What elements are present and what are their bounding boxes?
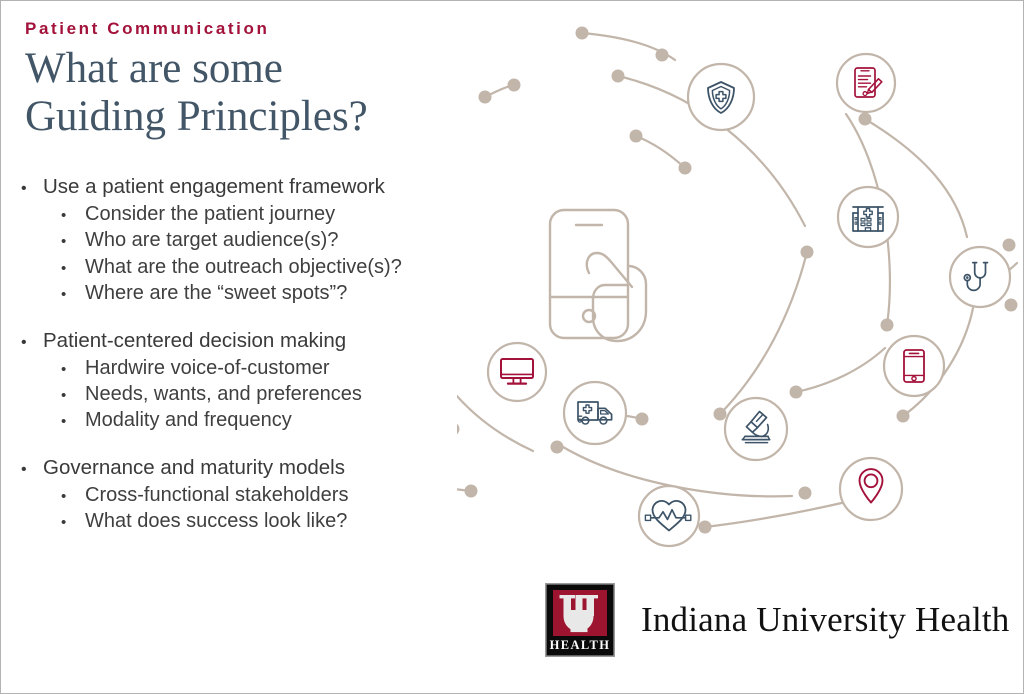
bullet-marker-icon: • (21, 332, 43, 353)
bullet-level2-label: Where are the “sweet spots”? (85, 280, 347, 306)
bullet-level1-label: Patient-centered decision making (43, 327, 346, 354)
eyebrow-label: Patient Communication (25, 19, 495, 39)
page-title-line-1: What are some (25, 45, 495, 93)
bullet-level2-label: Who are target audience(s)? (85, 227, 338, 253)
bullet-marker-icon: • (61, 285, 85, 305)
header-block: Patient Communication What are some Guid… (25, 19, 495, 141)
node-microscope[interactable] (725, 398, 787, 460)
bullet-level2: • Modality and frequency (61, 407, 491, 433)
bullet-level1-label: Governance and maturity models (43, 454, 345, 481)
logo-health-text: HEALTH (550, 638, 611, 652)
bullet-marker-icon: • (61, 259, 85, 279)
node-heart-ekg[interactable] (639, 486, 699, 546)
bullet-level2: • Cross-functional stakeholders (61, 482, 491, 508)
bullet-level2: • Consider the patient journey (61, 201, 491, 227)
bullet-level2: • Hardwire voice-of-customer (61, 355, 491, 381)
connected-care-graphic (457, 15, 1024, 575)
node-tablet-pen[interactable] (837, 54, 895, 112)
bullet-level2: • Where are the “sweet spots”? (61, 280, 491, 306)
icon-nodes (488, 54, 1010, 546)
node-desktop-monitor[interactable] (488, 343, 546, 401)
bullet-level2-label: What are the outreach objective(s)? (85, 254, 402, 280)
bullet-marker-icon: • (61, 232, 85, 252)
bullet-level2-label: Hardwire voice-of-customer (85, 355, 330, 381)
bullet-group: • Use a patient engagement framework • C… (21, 173, 491, 307)
page-title: What are some Guiding Principles? (25, 45, 495, 141)
node-ambulance[interactable] (564, 382, 626, 444)
bullet-level2: • Needs, wants, and preferences (61, 381, 491, 407)
bullet-marker-icon: • (21, 178, 43, 199)
bullet-level2-label: Needs, wants, and preferences (85, 381, 362, 407)
bullet-marker-icon: • (61, 487, 85, 507)
bullet-level1-label: Use a patient engagement framework (43, 173, 385, 200)
bullet-marker-icon: • (61, 206, 85, 226)
bullet-level2: • What are the outreach objective(s)? (61, 254, 491, 280)
bullet-level1: • Governance and maturity models (21, 454, 491, 481)
bullet-marker-icon: • (21, 459, 43, 480)
iu-health-logo-mark: HEALTH (545, 583, 615, 657)
phone-in-hand-icon (550, 210, 646, 341)
page-title-line-2: Guiding Principles? (25, 93, 495, 141)
node-smartphone[interactable] (884, 336, 944, 396)
bullet-level2: • What does success look like? (61, 508, 491, 534)
bullet-level2-label: Consider the patient journey (85, 201, 335, 227)
bullet-marker-icon: • (61, 513, 85, 533)
node-location-pin[interactable] (840, 458, 902, 520)
bullet-level2: • Who are target audience(s)? (61, 227, 491, 253)
bullet-level2-label: Cross-functional stakeholders (85, 482, 348, 508)
iu-health-logo: HEALTH Indiana University Health (545, 583, 1010, 657)
bullet-level1: • Use a patient engagement framework (21, 173, 491, 200)
bullet-level1: • Patient-centered decision making (21, 327, 491, 354)
bullet-list: • Use a patient engagement framework • C… (21, 173, 491, 535)
slide: Patient Communication What are some Guid… (0, 0, 1024, 694)
bullet-group: • Governance and maturity models • Cross… (21, 454, 491, 535)
bullet-level2-label: What does success look like? (85, 508, 347, 534)
bullet-marker-icon: • (61, 386, 85, 406)
node-shield-cross[interactable] (688, 64, 754, 130)
node-stethoscope[interactable] (950, 247, 1010, 307)
bullet-marker-icon: • (61, 360, 85, 380)
bullet-level2-label: Modality and frequency (85, 407, 292, 433)
node-hospital[interactable] (838, 187, 898, 247)
bullet-marker-icon: • (61, 412, 85, 432)
bullet-group: • Patient-centered decision making • Har… (21, 327, 491, 434)
iu-health-wordmark: Indiana University Health (641, 600, 1010, 640)
